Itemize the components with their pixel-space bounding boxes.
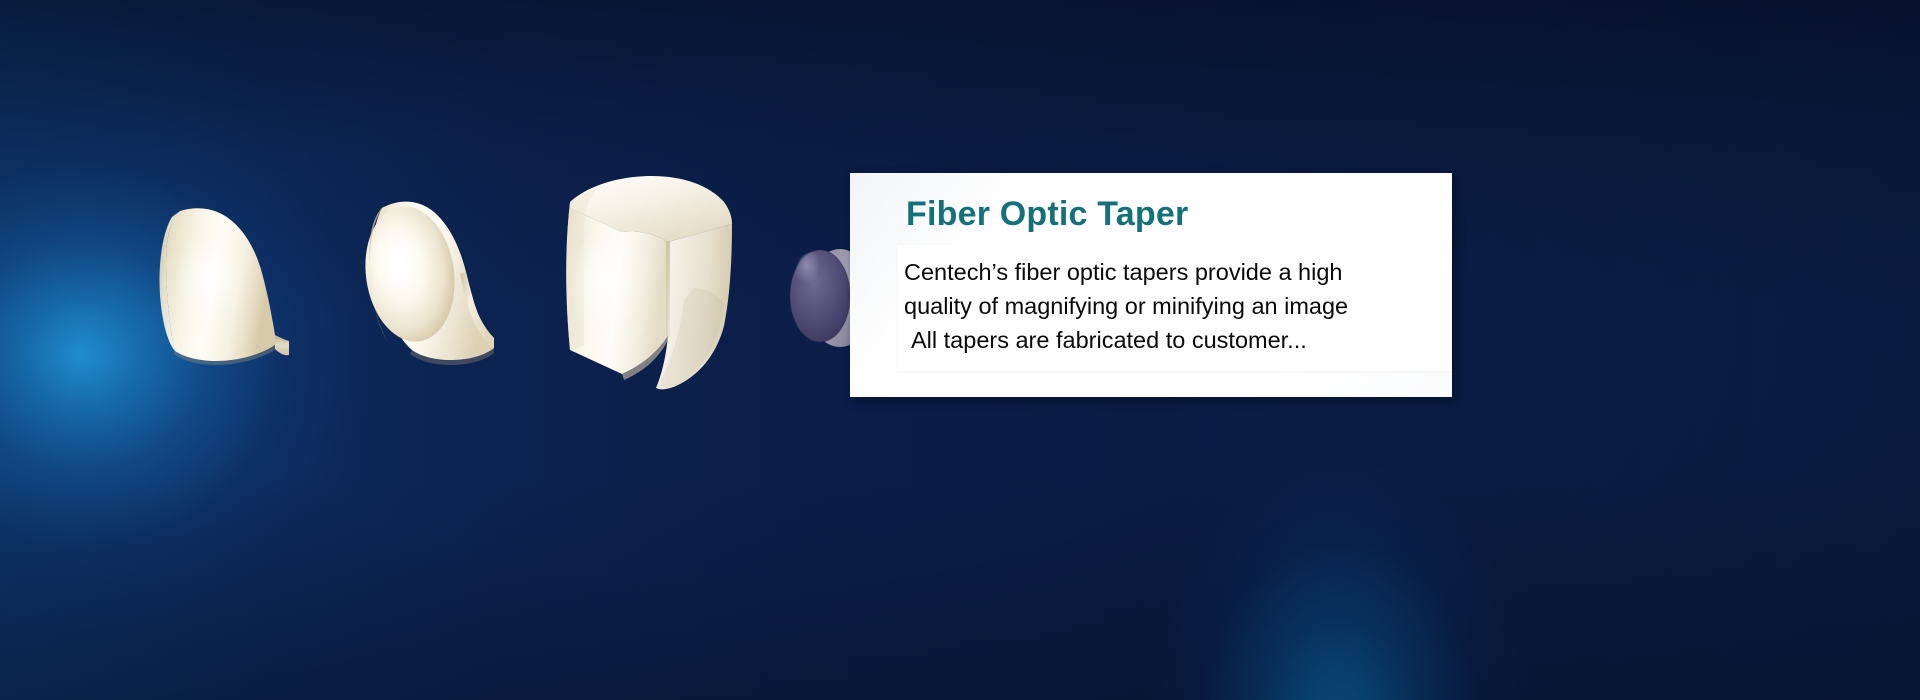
square-taper-icon bbox=[544, 168, 756, 396]
bell-taper-object bbox=[338, 196, 516, 372]
round-taper-object bbox=[142, 203, 302, 373]
body-line-2: quality of magnifying or minifying an im… bbox=[904, 289, 1424, 323]
body-line-3: All tapers are fabricated to customer... bbox=[904, 323, 1424, 357]
info-panel-body: Centech’s fiber optic tapers provide a h… bbox=[904, 255, 1424, 357]
body-line-1: Centech’s fiber optic tapers provide a h… bbox=[904, 255, 1424, 289]
banner-stage: Fiber Optic Taper Centech’s fiber optic … bbox=[0, 0, 1920, 700]
bell-taper-icon bbox=[338, 196, 516, 372]
round-taper-icon bbox=[142, 203, 302, 373]
info-panel: Fiber Optic Taper Centech’s fiber optic … bbox=[850, 173, 1452, 397]
page-title: Fiber Optic Taper bbox=[906, 195, 1188, 234]
square-taper-object bbox=[544, 168, 756, 396]
